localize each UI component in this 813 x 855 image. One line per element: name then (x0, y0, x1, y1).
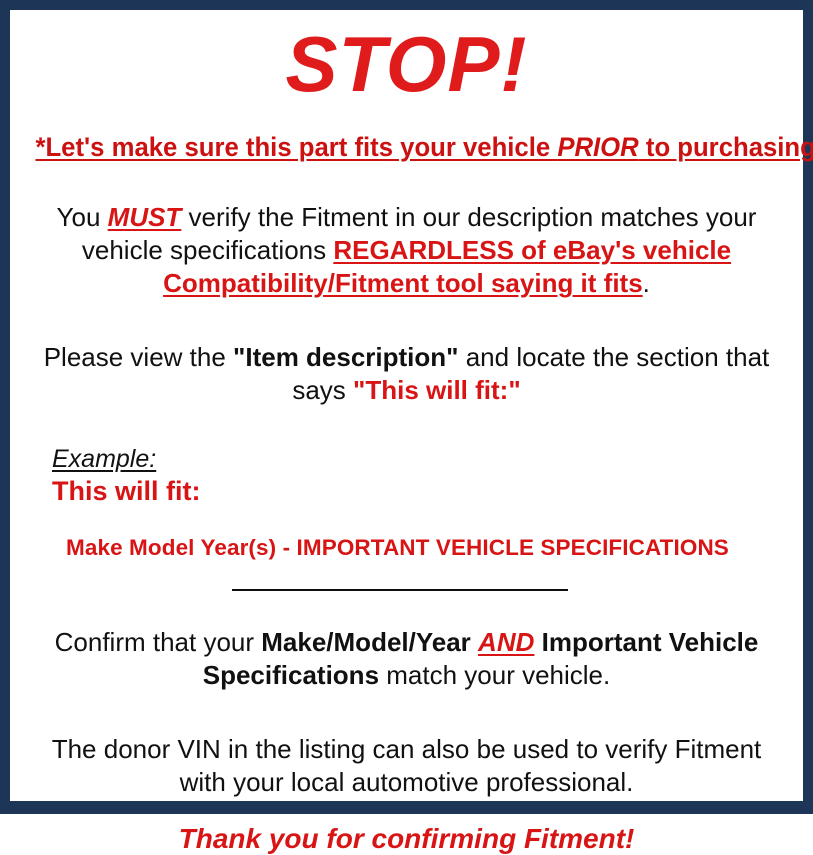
paragraph-item-description: Please view the "Item description" and l… (24, 341, 789, 408)
subtitle-pre-text: *Let's make sure this part fits your veh… (35, 132, 557, 162)
paragraph-confirm: Confirm that your Make/Model/Year AND Im… (24, 626, 789, 693)
subtitle-warning: *Let's make sure this part fits your veh… (35, 132, 777, 162)
emphasis-and: AND (478, 627, 534, 657)
fitment-notice-frame: STOP! *Let's make sure this part fits yo… (0, 0, 813, 814)
example-block: Example: This will fit: Make Model Year(… (24, 445, 789, 561)
confirm-part-3 (534, 627, 541, 657)
must-part-1: You (57, 202, 108, 232)
example-label-row: Example: (52, 445, 789, 474)
example-spec-line: Make Model Year(s) - IMPORTANT VEHICLE S… (66, 535, 789, 561)
confirm-part-2 (471, 627, 478, 657)
paragraph-donor-vin: The donor VIN in the listing can also be… (24, 733, 789, 800)
must-part-3: . (643, 268, 650, 298)
divider-wrap (24, 585, 789, 595)
emphasis-make-model-year: Make/Model/Year (261, 627, 471, 657)
example-fit-heading: This will fit: (52, 476, 789, 507)
confirm-part-4: match your vehicle. (379, 660, 610, 690)
emphasis-must: MUST (108, 202, 182, 232)
closing-thank-you: Thank you for confirming Fitment! (24, 823, 789, 855)
desc-part-1: Please view the (44, 342, 233, 372)
emphasis-item-description: "Item description" (233, 342, 458, 372)
example-label: Example: (52, 445, 156, 474)
confirm-part-1: Confirm that your (55, 627, 262, 657)
notice-content: STOP! *Let's make sure this part fits yo… (10, 10, 803, 801)
section-divider (232, 589, 568, 591)
subtitle-post-text: to purchasing* (639, 132, 813, 162)
paragraph-must-verify: You MUST verify the Fitment in our descr… (24, 201, 789, 301)
subtitle-emphasis-prior: PRIOR (557, 132, 638, 162)
emphasis-this-will-fit: "This will fit:" (353, 375, 521, 405)
page-title: STOP! (24, 22, 789, 106)
